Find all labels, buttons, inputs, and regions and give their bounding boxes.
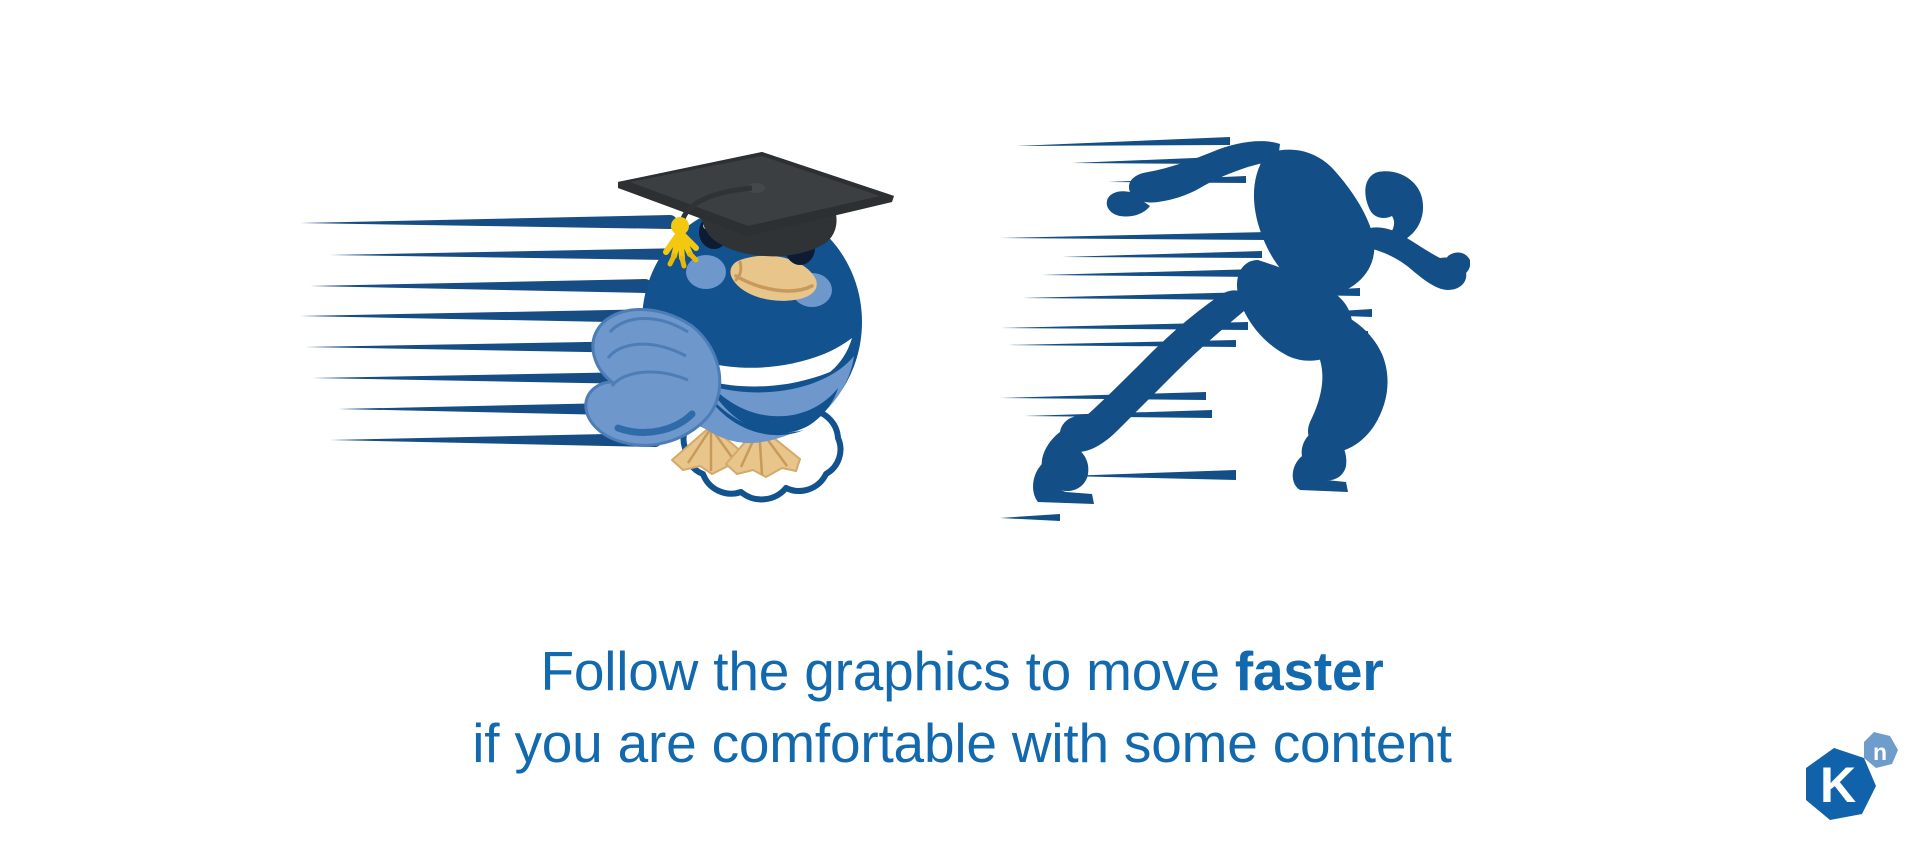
caption-emphasis-faster: faster [1235, 640, 1384, 702]
kn-logo[interactable]: K n [1788, 726, 1904, 832]
graphics-band [0, 120, 1924, 540]
runner-silhouette [1033, 141, 1470, 504]
slide-canvas: Follow the graphics to move faster if yo… [0, 0, 1924, 852]
sprinting-runner-graphic [1000, 130, 1470, 530]
caption-line-1-prefix: Follow the graphics to move [540, 640, 1234, 702]
logo-letter-n: n [1873, 739, 1887, 765]
caption-line-1: Follow the graphics to move faster [0, 636, 1924, 708]
caption-line-2: if you are comfortable with some content [0, 708, 1924, 780]
graduate-duck-graphic [300, 130, 1000, 530]
logo-letter-k: K [1820, 757, 1856, 813]
caption-block: Follow the graphics to move faster if yo… [0, 636, 1924, 779]
